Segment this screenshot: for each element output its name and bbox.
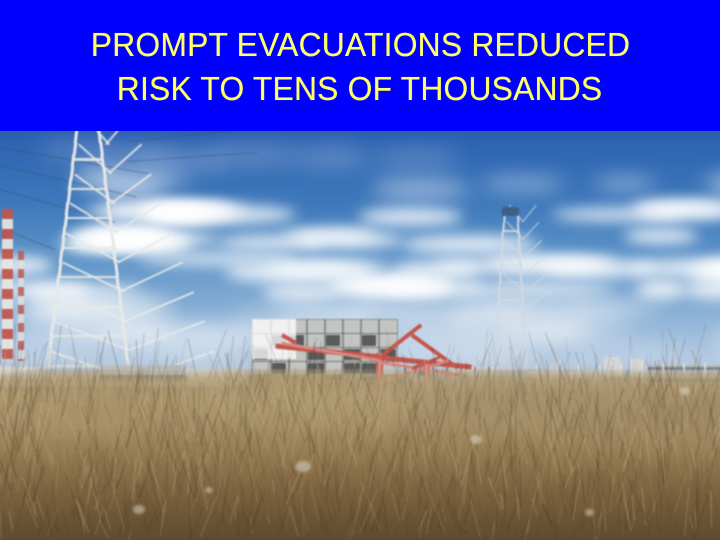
grass-blade <box>46 387 49 403</box>
grass-blade <box>86 506 93 540</box>
grass-blade <box>496 488 497 528</box>
pylon-strut <box>62 247 113 249</box>
grass-blade <box>184 361 186 390</box>
grass-blade <box>406 512 408 525</box>
title-banner: PROMPT EVACUATIONS REDUCED RISK TO TENS … <box>0 0 720 131</box>
dry-grass-field <box>0 369 720 540</box>
grass-blade <box>392 526 399 540</box>
grass-blade <box>526 380 531 400</box>
cloud-puff <box>702 176 720 190</box>
stack-top-cap <box>502 207 519 216</box>
grass-blade <box>702 453 705 472</box>
grass-blade <box>203 382 205 404</box>
grass-blade <box>599 488 601 499</box>
grass-blade <box>506 502 518 530</box>
grass-blade <box>107 373 112 394</box>
grass-blade <box>132 417 142 454</box>
grass-blade <box>666 343 667 391</box>
grass-blade <box>200 394 211 435</box>
grass-blade <box>165 462 167 476</box>
pylon-strut <box>500 282 521 283</box>
pylon-leg <box>122 323 126 336</box>
plant-photograph <box>0 131 720 540</box>
grass-blade <box>72 448 77 474</box>
grass-blade <box>475 449 482 484</box>
cloud-puff <box>544 260 657 278</box>
grass-blade <box>62 509 70 539</box>
cloud-puff <box>636 280 687 299</box>
cloud-puff <box>296 150 368 164</box>
grass-blade <box>675 426 678 447</box>
grass-blade <box>560 365 561 387</box>
cloud-puff <box>297 232 403 248</box>
pylon-strut <box>70 188 107 190</box>
cloud-puff <box>481 178 565 189</box>
grass-blade <box>107 458 110 468</box>
pylon-strut <box>502 248 519 249</box>
grass-blade <box>405 526 409 540</box>
grass-blade <box>167 495 170 506</box>
grass-blade <box>127 531 131 540</box>
cloud-puff <box>262 285 341 301</box>
grass-blade <box>664 453 665 467</box>
debris-speck <box>585 509 594 516</box>
pylon-strut <box>59 276 118 278</box>
grass-blade <box>111 483 124 532</box>
grass-blade <box>515 528 520 540</box>
grass-blade <box>471 419 476 430</box>
grass-blade <box>486 508 489 525</box>
debris-speck <box>680 387 690 395</box>
cloud-puff <box>594 178 655 189</box>
grass-blade <box>704 377 706 427</box>
grass-blade <box>519 405 525 419</box>
pylon-strut <box>501 265 520 266</box>
cloud-puff <box>358 208 463 226</box>
grass-blade <box>140 521 142 539</box>
grass-blade <box>604 508 606 532</box>
grass-blade <box>548 451 549 476</box>
pylon-strut <box>499 299 522 300</box>
grass-blade <box>67 447 68 493</box>
cloud-puff <box>336 276 448 295</box>
title-line-2: RISK TO TENS OF THOUSANDS <box>117 67 603 111</box>
cloud-puff <box>455 283 613 295</box>
grass-blade <box>398 398 401 432</box>
debris-speck <box>133 505 145 514</box>
cloud-puff <box>630 200 720 217</box>
pylon-leg <box>114 263 118 276</box>
grass-blade <box>656 521 660 532</box>
pylon-strut <box>66 217 110 219</box>
grass-blade <box>469 406 470 416</box>
debris-speck <box>205 487 213 493</box>
grass-blade <box>340 441 341 453</box>
grass-blade <box>121 461 123 480</box>
grass-blade <box>166 455 168 492</box>
grass-blade <box>620 398 623 422</box>
grass-blade <box>581 467 585 504</box>
pylon-leg <box>50 323 54 336</box>
grass-blade <box>436 397 438 440</box>
red-white-mast-far-left <box>2 209 13 359</box>
grass-blade <box>191 505 204 540</box>
grass-blade <box>350 424 354 443</box>
grass-blade <box>519 474 533 510</box>
grass-blade <box>246 386 247 429</box>
debris-speck <box>295 461 311 472</box>
grass-blade <box>9 439 10 481</box>
presentation-slide: PROMPT EVACUATIONS REDUCED RISK TO TENS … <box>0 0 720 540</box>
grass-blade <box>639 372 640 401</box>
grass-texture <box>0 369 720 540</box>
debris-speck <box>470 435 482 444</box>
grass-blade <box>426 428 427 462</box>
cloud-puff <box>624 228 697 245</box>
pylon-leg <box>58 263 62 276</box>
grass-blade <box>474 484 483 516</box>
cloud-puff <box>682 280 720 299</box>
grass-blade <box>95 400 99 424</box>
title-line-1: PROMPT EVACUATIONS REDUCED <box>90 23 629 67</box>
grass-blade <box>215 519 219 539</box>
grass-blade <box>226 458 232 485</box>
grass-blade <box>104 509 111 530</box>
cloud-puff <box>370 153 461 164</box>
grass-blade <box>393 392 394 402</box>
grass-blade <box>52 396 54 441</box>
cloud-puff <box>711 329 720 345</box>
cloud-puff <box>371 181 469 199</box>
grass-blade <box>124 479 126 518</box>
grass-blade <box>105 447 108 459</box>
